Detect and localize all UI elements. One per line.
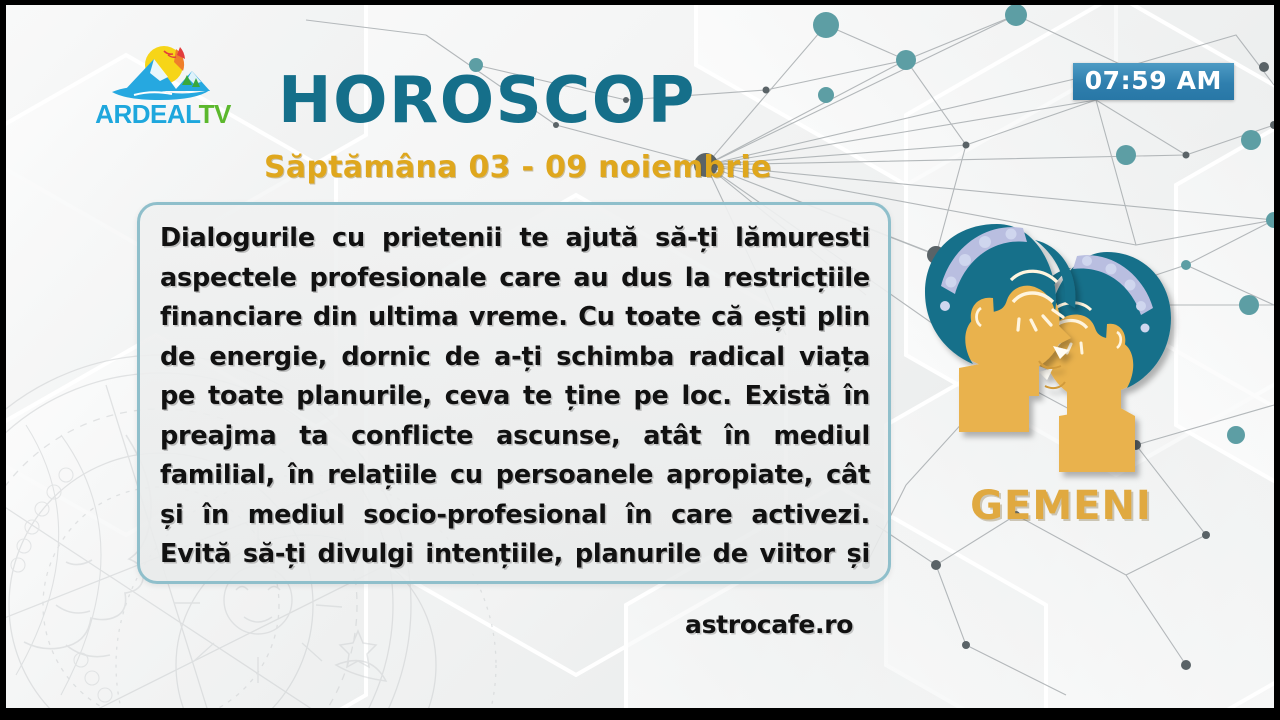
mountain-sun-logo-icon [106,45,216,103]
logo-tv-text: TV [199,99,231,129]
zodiac-sign-name: GEMENI [911,483,1211,529]
clock-badge: 07:59 AM [1073,63,1234,100]
broadcast-screen: ARDEALTV HOROSCOP Săptămâna 03 - 09 noie… [0,0,1280,720]
source-website-label: astrocafe.ro [685,610,853,639]
horoscope-textbox: Dialogurile cu prietenii te ajută să-ți … [137,202,891,584]
horoscope-body-text: Dialogurile cu prietenii te ajută să-ți … [140,205,888,584]
twin-heads-icon [911,220,1211,490]
logo-ardeal-text: ARDEAL [95,99,198,129]
channel-logo-text: ARDEALTV [78,101,248,127]
page-title: HOROSCOP [278,69,696,133]
pillarbox-left [0,0,6,720]
letterbox-bottom [0,708,1280,720]
channel-logo: ARDEALTV [78,45,248,137]
letterbox-top [0,0,1280,5]
video-stage: ARDEALTV HOROSCOP Săptămâna 03 - 09 noie… [6,5,1274,708]
page-subtitle: Săptămâna 03 - 09 noiembrie [264,153,772,183]
pillarbox-right [1274,0,1280,720]
